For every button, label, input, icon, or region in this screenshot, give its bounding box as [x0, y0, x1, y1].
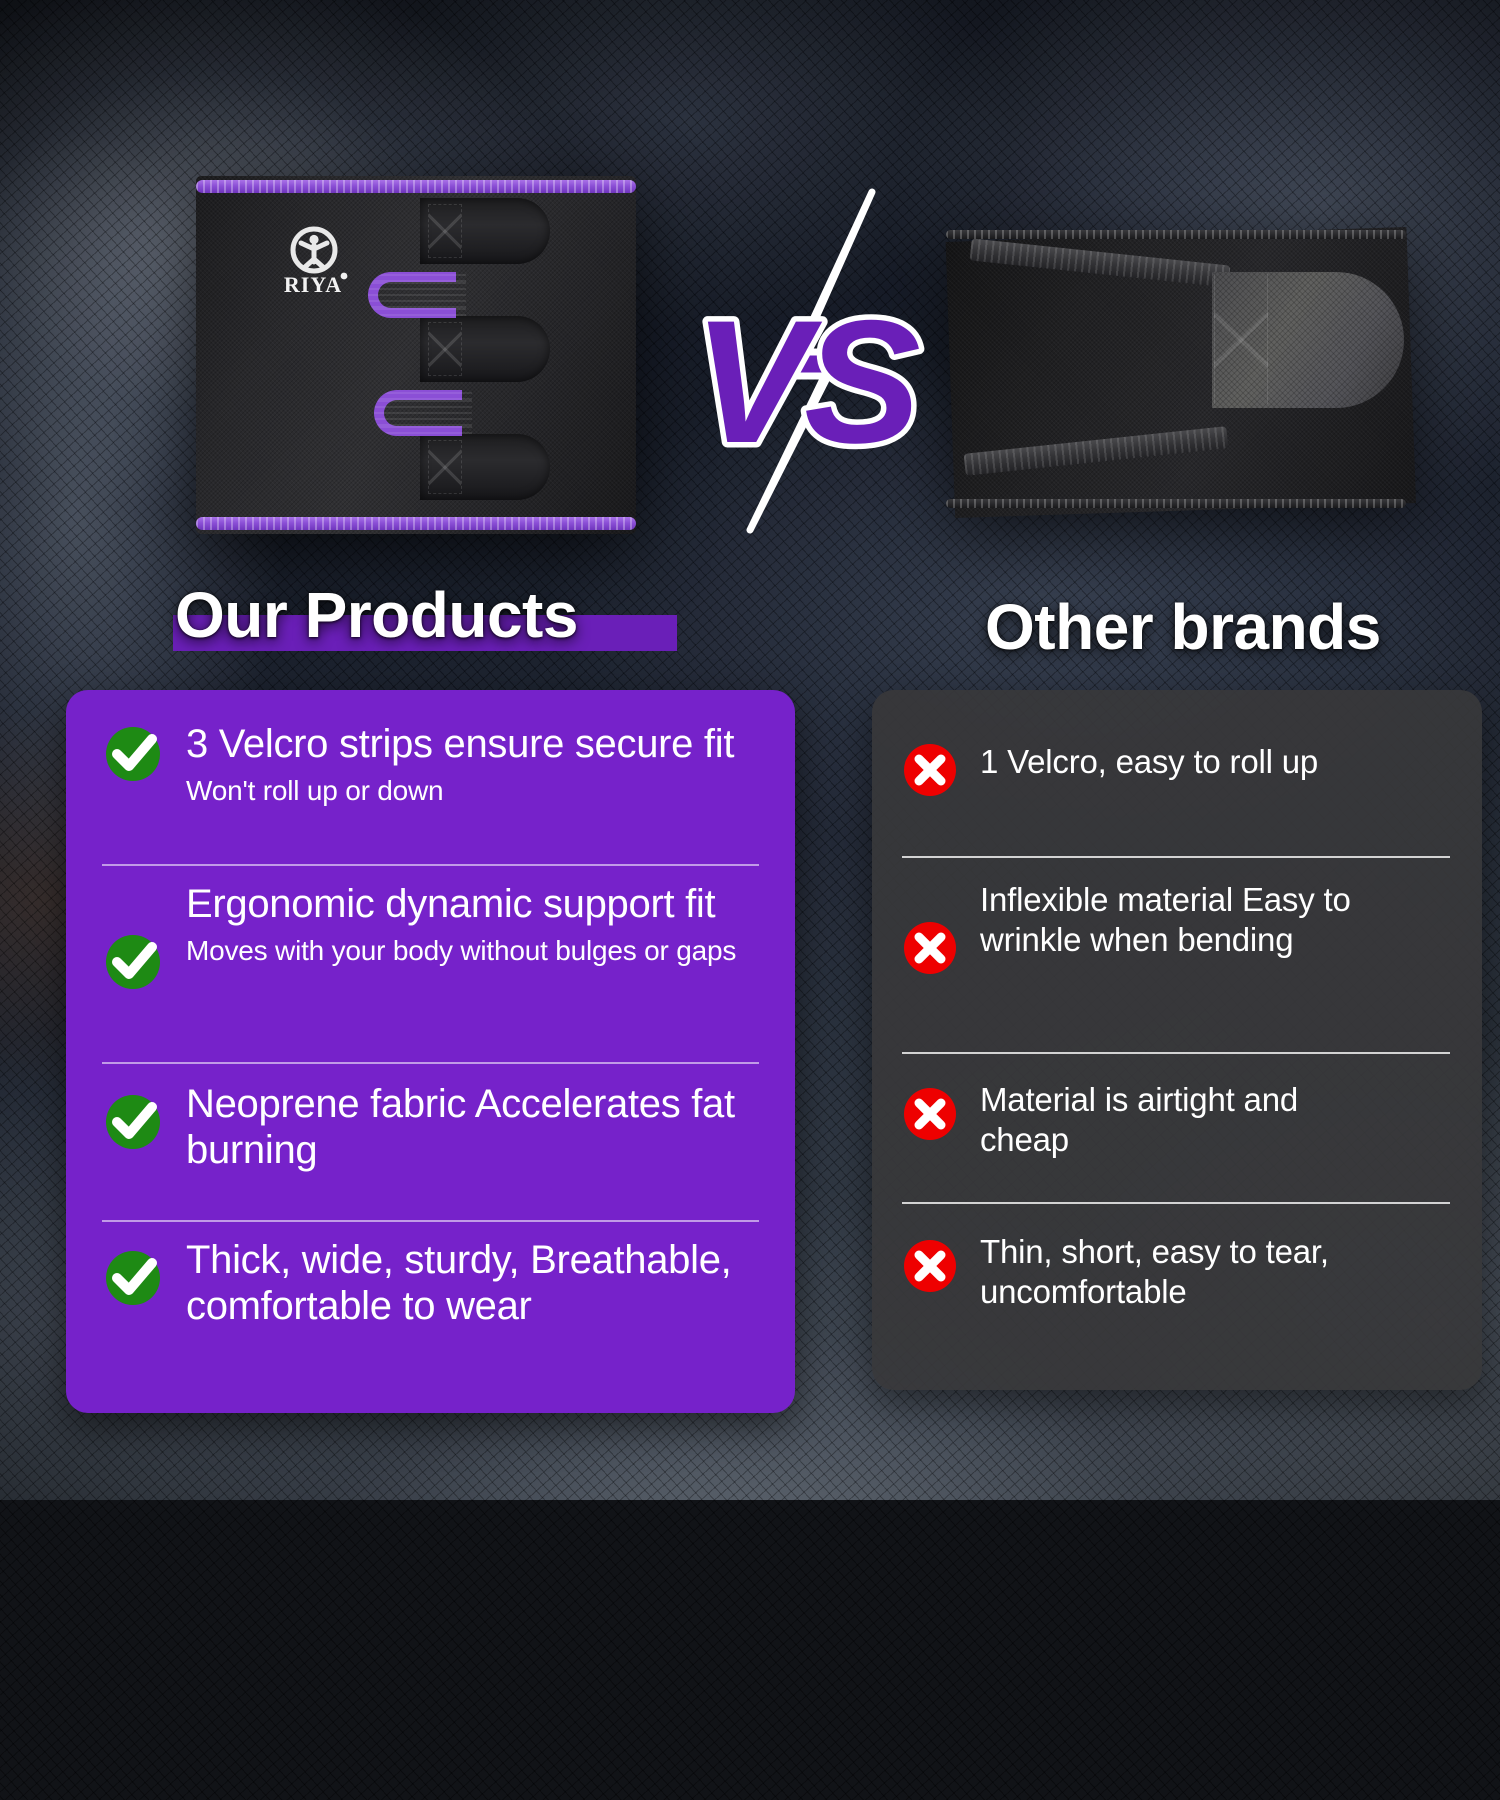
- svg-text:VS: VS: [693, 285, 919, 480]
- card-divider: [902, 1202, 1450, 1204]
- belt-piping-top: [196, 180, 636, 193]
- feature-title: Neoprene fabric Accelerates fat burning: [186, 1082, 767, 1173]
- drawback-title: Inflexible material Easy to wrinkle when…: [980, 880, 1360, 961]
- our-products-heading: Our Products: [175, 578, 578, 652]
- drawback-title: 1 Velcro, easy to roll up: [980, 742, 1318, 782]
- x-circle-icon: [902, 742, 958, 798]
- riya-brand-logo: RIYA: [274, 226, 354, 298]
- other-strap-stitch: [1214, 274, 1268, 404]
- drawback-item-1: 1 Velcro, easy to roll up: [902, 742, 1458, 798]
- our-products-card: 3 Velcro strips ensure secure fit Won't …: [66, 690, 795, 1413]
- feature-title: Thick, wide, sturdy, Breathable, comfort…: [186, 1238, 782, 1329]
- purple-loop-2: [374, 390, 462, 436]
- x-circle-icon: [902, 920, 958, 976]
- card-divider: [902, 856, 1450, 858]
- purple-loop-1: [368, 272, 456, 318]
- other-belt-edge-top: [946, 230, 1407, 239]
- card-divider: [102, 864, 759, 866]
- other-brand-product-image: [936, 218, 1416, 518]
- card-divider: [102, 1220, 759, 1222]
- feature-item-3: Neoprene fabric Accelerates fat burning: [102, 1082, 767, 1173]
- card-divider: [902, 1052, 1450, 1054]
- drawback-title: Material is airtight and cheap: [980, 1080, 1330, 1161]
- drawback-item-2: Inflexible material Easy to wrinkle when…: [902, 880, 1458, 976]
- feature-item-2: Ergonomic dynamic support fit Moves with…: [102, 882, 767, 992]
- check-circle-icon: [102, 722, 164, 784]
- drawback-item-3: Material is airtight and cheap: [902, 1080, 1458, 1161]
- vs-text: VS: [693, 285, 919, 480]
- feature-subtitle: Moves with your body without bulges or g…: [186, 934, 736, 968]
- strap-stitch: [428, 322, 462, 376]
- card-divider: [102, 1062, 759, 1064]
- feature-subtitle: Won't roll up or down: [186, 774, 734, 808]
- x-circle-icon: [902, 1086, 958, 1142]
- velcro-strap-3: [420, 434, 550, 500]
- velcro-strap-1: [420, 198, 550, 264]
- other-belt-edge-bottom: [946, 499, 1407, 508]
- belt-piping-bottom: [196, 517, 636, 530]
- feature-item-4: Thick, wide, sturdy, Breathable, comfort…: [102, 1238, 782, 1329]
- our-product-image: RIYA: [196, 176, 636, 534]
- check-circle-icon: [102, 930, 164, 992]
- velcro-strap-2: [420, 316, 550, 382]
- feature-title: 3 Velcro strips ensure secure fit: [186, 722, 734, 768]
- check-circle-icon: [102, 1090, 164, 1152]
- strap-stitch: [428, 440, 462, 494]
- feature-item-1: 3 Velcro strips ensure secure fit Won't …: [102, 722, 767, 807]
- svg-text:RIYA: RIYA: [284, 272, 342, 297]
- feature-title: Ergonomic dynamic support fit: [186, 882, 736, 928]
- strap-stitch: [428, 204, 462, 258]
- other-brands-card: 1 Velcro, easy to roll up Inflexible mat…: [872, 690, 1482, 1390]
- other-brands-heading: Other brands: [985, 590, 1381, 664]
- drawback-item-4: Thin, short, easy to tear, uncomfortable: [902, 1232, 1468, 1313]
- check-circle-icon: [102, 1246, 164, 1308]
- belt-body: [196, 176, 636, 534]
- vs-badge: VS: [686, 180, 926, 540]
- drawback-title: Thin, short, easy to tear, uncomfortable: [980, 1232, 1420, 1313]
- x-circle-icon: [902, 1238, 958, 1294]
